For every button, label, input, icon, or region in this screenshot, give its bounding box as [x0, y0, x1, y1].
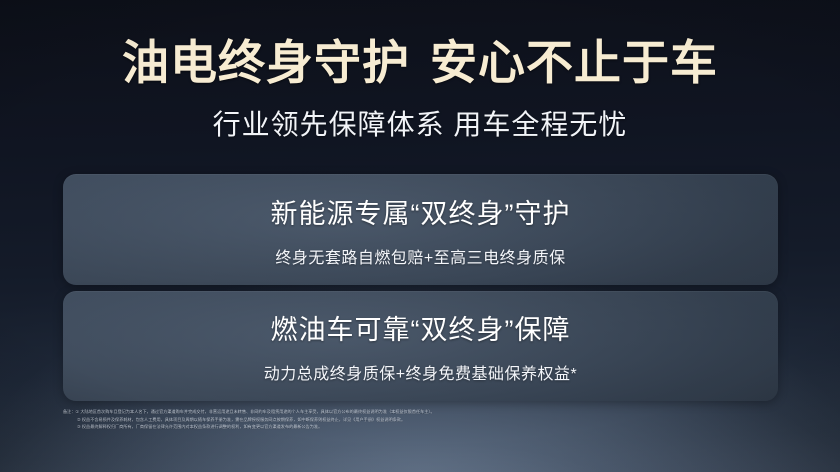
- headline-part-1: 油电终身守护: [122, 36, 410, 89]
- headline-part-2: 安心不止于车: [430, 36, 718, 89]
- subtitle-block: 行业领先保障体系 用车全程无忧: [0, 108, 840, 142]
- disclaimer-line-2: ② 权益不含易损件及保养耗材，包含人工费用，具体项目及周期以随车保养手册为准，需…: [63, 416, 779, 424]
- disclaimer-line-1: 备注：① 大陆地区首次购车且登记为本人名下，通过官方渠道购车并完成交付，非营运用…: [63, 408, 779, 416]
- page-title: 油电终身守护安心不止于车: [122, 38, 718, 87]
- disclaimer-line-3: ③ 权益最终解释权归厂商所有，厂商保留在法律允许范围内对本权益条款进行调整的权利…: [63, 423, 779, 431]
- headline-block: 油电终身守护安心不止于车: [0, 38, 840, 87]
- benefit-card-subtitle: 动力总成终身质保+终身免费基础保养权益*: [264, 360, 578, 384]
- benefit-card-subtitle: 终身无套路自燃包赔+至高三电终身质保: [275, 244, 565, 268]
- promo-slide: 油电终身守护安心不止于车 行业领先保障体系 用车全程无忧 新能源专属“双终身”守…: [0, 0, 840, 472]
- benefit-card-title: 燃油车可靠“双终身”保障: [271, 308, 571, 347]
- benefit-card-new-energy[interactable]: 新能源专属“双终身”守护 终身无套路自燃包赔+至高三电终身质保: [63, 174, 778, 285]
- benefit-card-title: 新能源专属“双终身”守护: [271, 192, 571, 231]
- page-subtitle: 行业领先保障体系 用车全程无忧: [213, 108, 628, 142]
- benefit-card-fuel[interactable]: 燃油车可靠“双终身”保障 动力总成终身质保+终身免费基础保养权益*: [63, 291, 778, 401]
- disclaimer-block: 备注：① 大陆地区首次购车且登记为本人名下，通过官方渠道购车并完成交付，非营运用…: [63, 408, 779, 431]
